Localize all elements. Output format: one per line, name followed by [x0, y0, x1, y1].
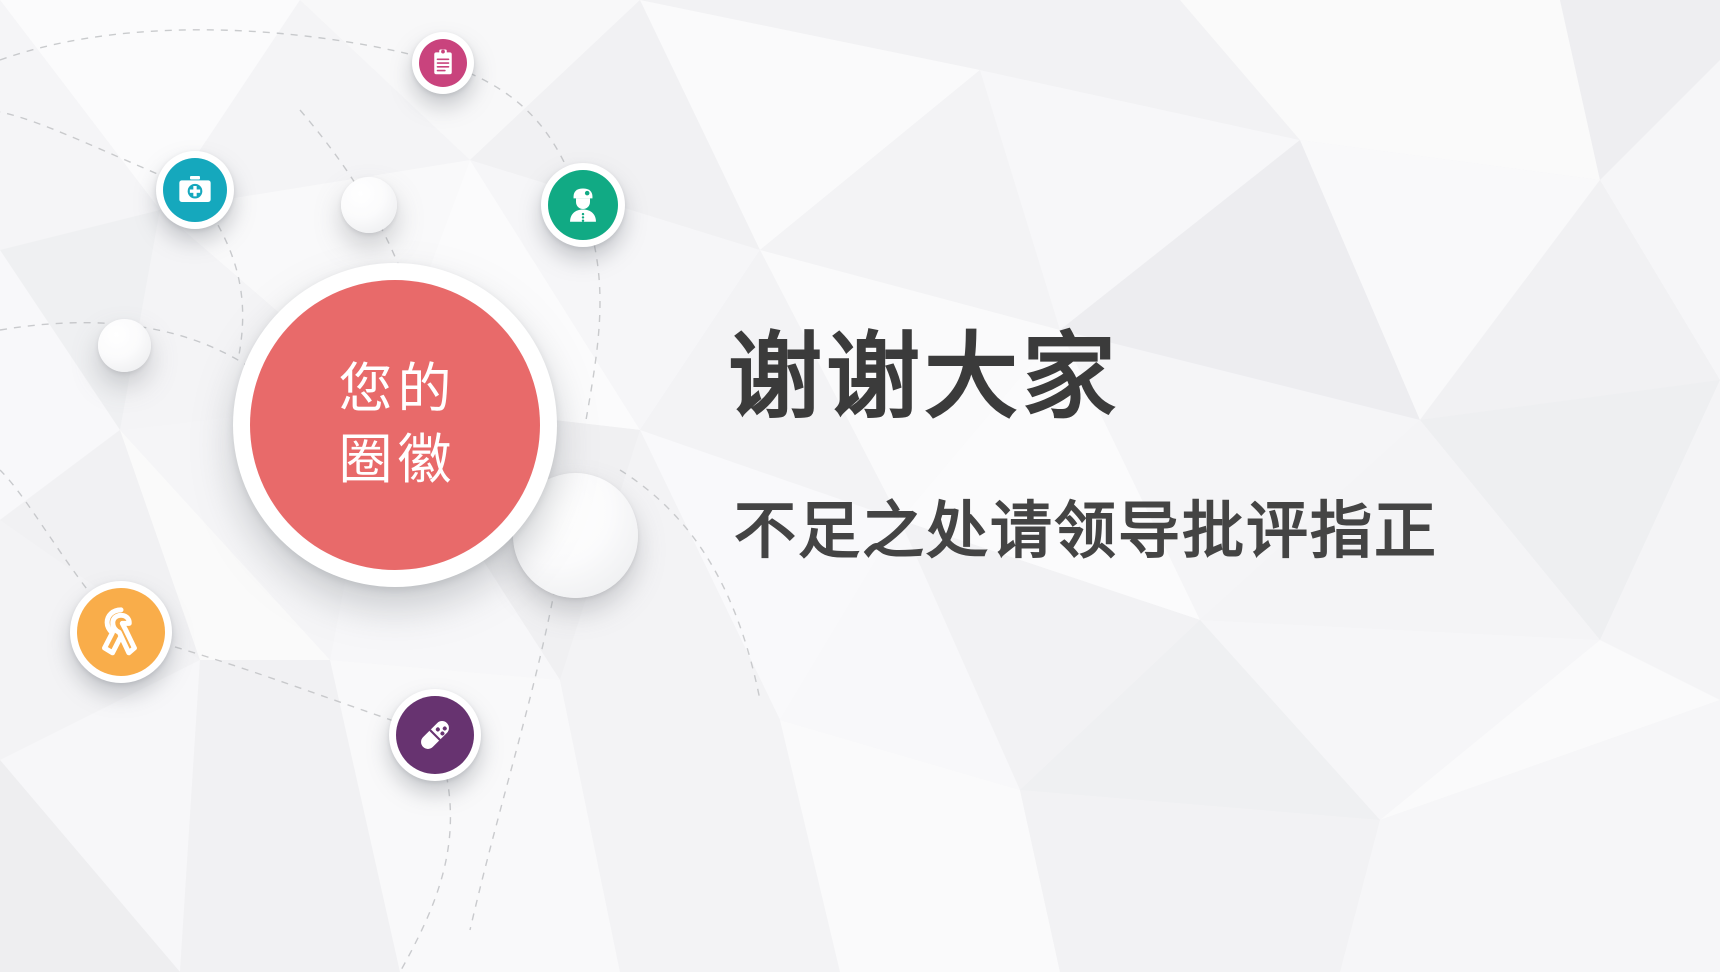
awareness-ribbon-badge[interactable]: [70, 581, 172, 683]
pill-capsule-icon: [412, 712, 458, 758]
center-logo-circle[interactable]: 您的 圈徽: [233, 263, 557, 587]
logo-line-2: 圈徽: [334, 425, 457, 496]
pill-capsule-badge-fill: [396, 696, 474, 774]
decor-disc-top: [341, 177, 397, 233]
awareness-ribbon-icon: [95, 606, 147, 658]
first-aid-kit-icon: [175, 170, 215, 210]
clipboard-icon: [428, 48, 458, 78]
first-aid-kit-badge-fill: [163, 158, 227, 222]
text-block: 谢谢大家 不足之处请领导批评指正: [728, 322, 1628, 569]
decor-disc-left: [98, 319, 151, 372]
first-aid-kit-badge[interactable]: [156, 151, 234, 229]
logo-fill: 您的 圈徽: [250, 280, 540, 570]
subheadline: 不足之处请领导批评指正: [734, 495, 1628, 569]
awareness-ribbon-badge-fill: [77, 588, 165, 676]
nurse-badge-fill: [548, 170, 618, 240]
clipboard-badge[interactable]: [412, 32, 474, 94]
logo-line-1: 您的: [334, 354, 457, 425]
headline: 谢谢大家: [728, 322, 1628, 433]
nurse-icon: [562, 184, 604, 226]
nurse-badge[interactable]: [541, 163, 625, 247]
clipboard-badge-fill: [419, 39, 467, 87]
presentation-slide: 您的 圈徽: [0, 0, 1720, 972]
pill-capsule-badge[interactable]: [389, 689, 481, 781]
